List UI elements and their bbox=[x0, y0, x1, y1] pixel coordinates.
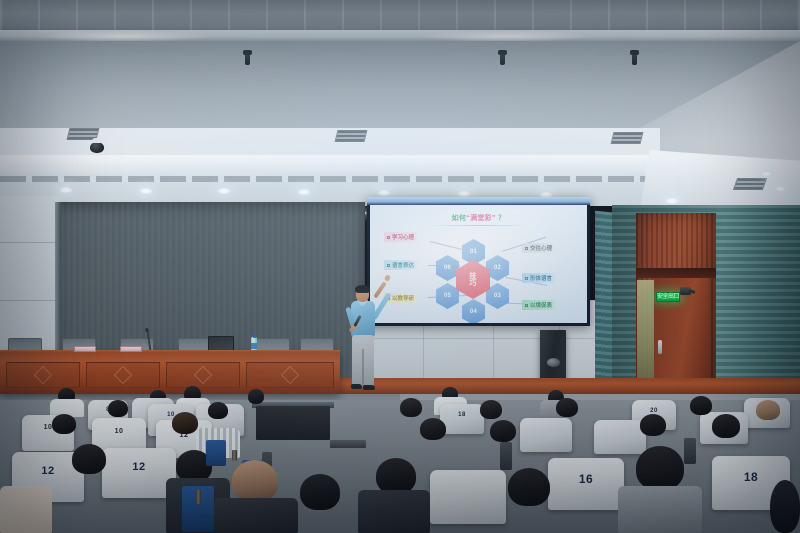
hexagon-label: 06 bbox=[444, 265, 451, 271]
dais-panel bbox=[166, 362, 240, 388]
air-vent-icon bbox=[335, 130, 368, 142]
hexagon-label: 01 bbox=[470, 249, 477, 255]
bullet-icon bbox=[525, 277, 528, 280]
exit-sign: 安全出口 bbox=[656, 292, 680, 302]
ceiling-hook-icon bbox=[500, 53, 505, 65]
ceiling-downlight-icon bbox=[776, 187, 785, 191]
slide-label-text: 形体语言 bbox=[530, 274, 552, 282]
ceiling-downlight-icon bbox=[298, 189, 310, 195]
attendee-head bbox=[420, 418, 446, 440]
attendee-body bbox=[358, 490, 430, 533]
seat-armrest bbox=[684, 438, 696, 464]
hexagon-label: 02 bbox=[494, 265, 501, 271]
seat-number: 18 bbox=[744, 470, 758, 484]
seat-number: 16 bbox=[579, 472, 593, 486]
dais-panel bbox=[6, 362, 80, 388]
slide-label-text: 学习心理 bbox=[392, 233, 414, 241]
ceiling-hook-icon bbox=[632, 53, 637, 65]
slide-label-text: 以境促表 bbox=[530, 301, 552, 309]
hexagon-label: 05 bbox=[444, 293, 451, 299]
ceiling-downlight-icon bbox=[60, 187, 72, 193]
dais-panel bbox=[86, 362, 160, 388]
ceiling-camera-icon bbox=[90, 142, 104, 153]
ceiling-downlight-icon bbox=[666, 198, 678, 204]
ceiling-hook-icon bbox=[245, 53, 250, 65]
hexagon-05[interactable]: 05 bbox=[436, 283, 459, 309]
nameplate bbox=[74, 346, 96, 352]
exit-sign-label: 安全出口 bbox=[657, 294, 679, 300]
attendee-head bbox=[52, 414, 76, 434]
core-label-line2: 巧 bbox=[469, 280, 476, 287]
seat-number: 20 bbox=[650, 408, 658, 414]
ceiling-downlight-icon bbox=[762, 172, 771, 176]
slide-label-06[interactable]: 语言表达 bbox=[384, 260, 417, 270]
seat-base bbox=[206, 440, 226, 466]
bullet-icon bbox=[387, 236, 390, 239]
attendee-head bbox=[72, 444, 106, 474]
seat-16-right-front[interactable]: 16 bbox=[548, 458, 624, 510]
seat-row-right-front[interactable] bbox=[430, 470, 506, 524]
air-vent-icon bbox=[733, 178, 767, 190]
hexagon-label: 04 bbox=[470, 309, 477, 315]
attendee-head bbox=[712, 414, 740, 438]
ceiling-slat-texture bbox=[0, 0, 800, 34]
attendee-head bbox=[508, 468, 550, 506]
screen-top-band bbox=[367, 197, 590, 205]
dais-panel bbox=[246, 362, 334, 388]
drink-cup-icon bbox=[196, 490, 201, 504]
seat-armrest bbox=[500, 442, 512, 470]
glasses-icon bbox=[357, 292, 368, 295]
slide-label-01[interactable]: 学习心理 bbox=[384, 232, 417, 242]
attendee-head bbox=[376, 458, 416, 494]
hexagon-label: 03 bbox=[494, 293, 501, 299]
presenter bbox=[338, 283, 388, 395]
attendee-head bbox=[770, 480, 800, 533]
seat-row-right[interactable] bbox=[520, 418, 572, 452]
ceiling-downlight-icon bbox=[378, 190, 390, 196]
lecture-hall-photo: 安全出口 如何“满堂彩” ？ 01 02 03 bbox=[0, 0, 800, 533]
attendee-head bbox=[756, 400, 780, 420]
projection-screen: 如何“满堂彩” ？ 01 02 03 04 05 06 bbox=[367, 197, 590, 326]
presenter-leg-seam bbox=[362, 349, 364, 387]
attendee-head bbox=[556, 398, 578, 417]
door-handle-icon[interactable] bbox=[658, 340, 662, 354]
slide-label-02[interactable]: 交往心理 bbox=[522, 243, 555, 253]
attendee-head bbox=[480, 400, 502, 419]
speaker-driver-icon bbox=[547, 358, 560, 367]
attendee-head bbox=[172, 412, 198, 434]
drink-cup-icon bbox=[232, 450, 237, 461]
presenter-shoe bbox=[351, 384, 362, 389]
attendee-body bbox=[0, 486, 52, 533]
attendee-head bbox=[640, 414, 666, 436]
seat-number: 10 bbox=[115, 428, 124, 435]
slide-label-text: 交往心理 bbox=[530, 244, 552, 252]
attendee-head bbox=[208, 402, 228, 419]
seat-number: 12 bbox=[132, 461, 145, 473]
attendee-head bbox=[690, 396, 712, 415]
hexagon-06[interactable]: 06 bbox=[436, 255, 459, 281]
slide-label-03[interactable]: 形体语言 bbox=[522, 273, 555, 283]
attendee-head bbox=[232, 460, 278, 502]
attendee-body bbox=[618, 486, 702, 533]
core-label-line1: 技 bbox=[469, 273, 476, 280]
attendee-body bbox=[214, 498, 298, 533]
attendee-head bbox=[300, 474, 340, 510]
hexagon-04[interactable]: 04 bbox=[462, 299, 485, 323]
hexagon-mindmap: 01 02 03 04 05 06 技 巧 学习心理 bbox=[370, 205, 587, 323]
aisle-table bbox=[256, 406, 330, 440]
hexagon-center-core[interactable]: 技 巧 bbox=[456, 260, 490, 299]
slide-surface: 如何“满堂彩” ？ 01 02 03 04 05 06 bbox=[370, 205, 587, 323]
ceiling-linear-diffuser bbox=[0, 176, 665, 182]
seat-row-right[interactable] bbox=[594, 420, 646, 454]
seat-number: 12 bbox=[41, 465, 54, 477]
attendee-head bbox=[490, 420, 516, 442]
ceiling-light-cove bbox=[0, 155, 665, 175]
wall-camera-icon bbox=[680, 286, 694, 297]
attendee-head bbox=[636, 446, 684, 490]
bullet-icon bbox=[387, 264, 390, 267]
presenter-torso bbox=[351, 301, 375, 337]
attendee-head bbox=[248, 389, 264, 404]
bullet-icon bbox=[525, 304, 528, 307]
slide-label-04[interactable]: 以境促表 bbox=[522, 300, 555, 310]
bullet-icon bbox=[525, 247, 528, 250]
attendee-head bbox=[400, 398, 422, 417]
presenter-shoe bbox=[363, 385, 375, 390]
slide-label-text: 以教导研 bbox=[392, 294, 414, 302]
seat-number: 18 bbox=[458, 412, 466, 418]
desk-tray bbox=[330, 440, 366, 448]
slide-label-text: 语言表达 bbox=[392, 261, 414, 269]
attendee-head bbox=[108, 400, 128, 417]
ceiling-downlight-icon bbox=[218, 188, 230, 194]
ceiling-downlight-icon bbox=[140, 188, 152, 194]
seat-18-right[interactable]: 18 bbox=[440, 404, 484, 434]
air-vent-icon bbox=[611, 132, 644, 144]
seat-12-left-front[interactable]: 12 bbox=[102, 448, 176, 498]
nameplate bbox=[120, 346, 142, 352]
door-header-trim bbox=[636, 268, 716, 278]
